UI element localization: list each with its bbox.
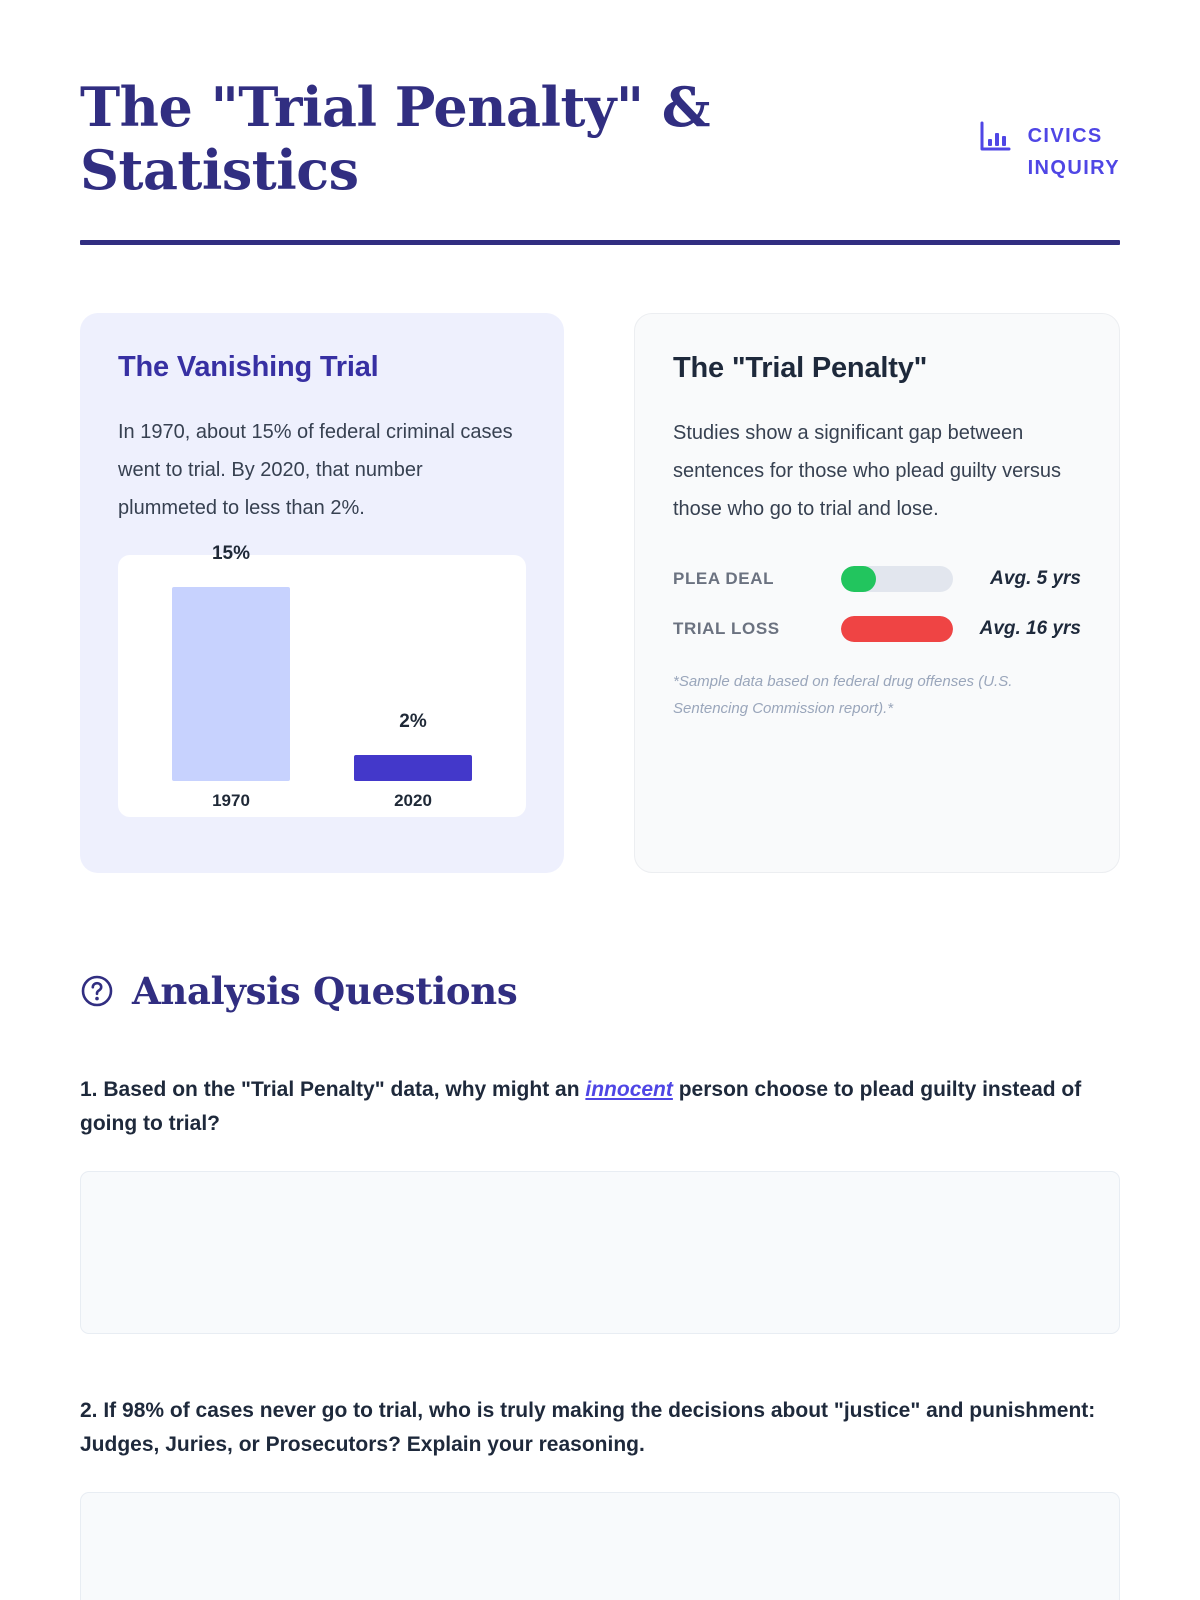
brand-text: CIVICS INQUIRY — [1028, 120, 1120, 184]
bar-1970 — [172, 587, 290, 781]
brand-line-1: CIVICS — [1028, 120, 1120, 152]
card-right-title: The "Trial Penalty" — [673, 352, 1081, 385]
bar-label-2020: 2020 — [394, 791, 432, 811]
analysis-heading: Analysis Questions — [132, 969, 517, 1013]
card-right-body: Studies show a significant gap between s… — [673, 415, 1081, 528]
brand-line-2: INQUIRY — [1028, 152, 1120, 184]
bar-value-1970: 15% — [212, 543, 250, 565]
bar-2020 — [354, 755, 472, 781]
analysis-header: Analysis Questions — [80, 969, 1120, 1013]
stat-row-plea-deal: PLEA DEAL Avg. 5 yrs — [673, 566, 1081, 592]
page-header: The "Trial Penalty" & Statistics CIVICS … — [80, 62, 1120, 202]
question-circle-icon — [80, 974, 114, 1008]
card-trial-penalty: The "Trial Penalty" Studies show a signi… — [634, 313, 1120, 873]
question-2: 2. If 98% of cases never go to trial, wh… — [80, 1394, 1120, 1462]
stat-label-plea-deal: PLEA DEAL — [673, 569, 823, 589]
card-left-title: The Vanishing Trial — [118, 351, 526, 384]
bar-label-1970: 1970 — [212, 791, 250, 811]
answer-box-1[interactable] — [80, 1171, 1120, 1334]
chart-plot-area: 15% 1970 2% 2020 — [118, 555, 526, 817]
bar-column-1970: 15% 1970 — [172, 555, 290, 781]
stat-row-trial-loss: TRIAL LOSS Avg. 16 yrs — [673, 616, 1081, 642]
brand-logo: CIVICS INQUIRY — [978, 76, 1120, 184]
vanishing-trial-chart: 15% 1970 2% 2020 — [118, 555, 526, 817]
stat-comparison-list: PLEA DEAL Avg. 5 yrs TRIAL LOSS Avg. 16 … — [673, 566, 1081, 642]
stat-value-plea-deal: Avg. 5 yrs — [971, 568, 1081, 590]
stat-track-plea-deal — [841, 566, 953, 592]
header-divider — [80, 240, 1120, 245]
stat-value-trial-loss: Avg. 16 yrs — [971, 618, 1081, 640]
bar-chart-icon — [978, 120, 1012, 154]
stat-track-trial-loss — [841, 616, 953, 642]
stat-fill-plea-deal — [841, 566, 876, 592]
stat-label-trial-loss: TRIAL LOSS — [673, 619, 823, 639]
cards-row: The Vanishing Trial In 1970, about 15% o… — [80, 313, 1120, 873]
card-left-body: In 1970, about 15% of federal criminal c… — [118, 414, 526, 527]
answer-box-2[interactable] — [80, 1492, 1120, 1600]
worksheet-page: The "Trial Penalty" & Statistics CIVICS … — [0, 0, 1200, 1600]
question-1-emphasis: innocent — [585, 1078, 673, 1101]
card-right-footnote: *Sample data based on federal drug offen… — [673, 668, 1081, 722]
question-2-part1: 2. If 98% of cases never go to trial, wh… — [80, 1399, 1095, 1456]
card-vanishing-trial: The Vanishing Trial In 1970, about 15% o… — [80, 313, 564, 873]
question-1: 1. Based on the "Trial Penalty" data, wh… — [80, 1073, 1120, 1141]
page-title: The "Trial Penalty" & Statistics — [80, 76, 740, 202]
stat-fill-trial-loss — [841, 616, 953, 642]
bar-column-2020: 2% 2020 — [354, 555, 472, 781]
bar-value-2020: 2% — [399, 711, 426, 733]
question-1-part1: 1. Based on the "Trial Penalty" data, wh… — [80, 1078, 585, 1101]
